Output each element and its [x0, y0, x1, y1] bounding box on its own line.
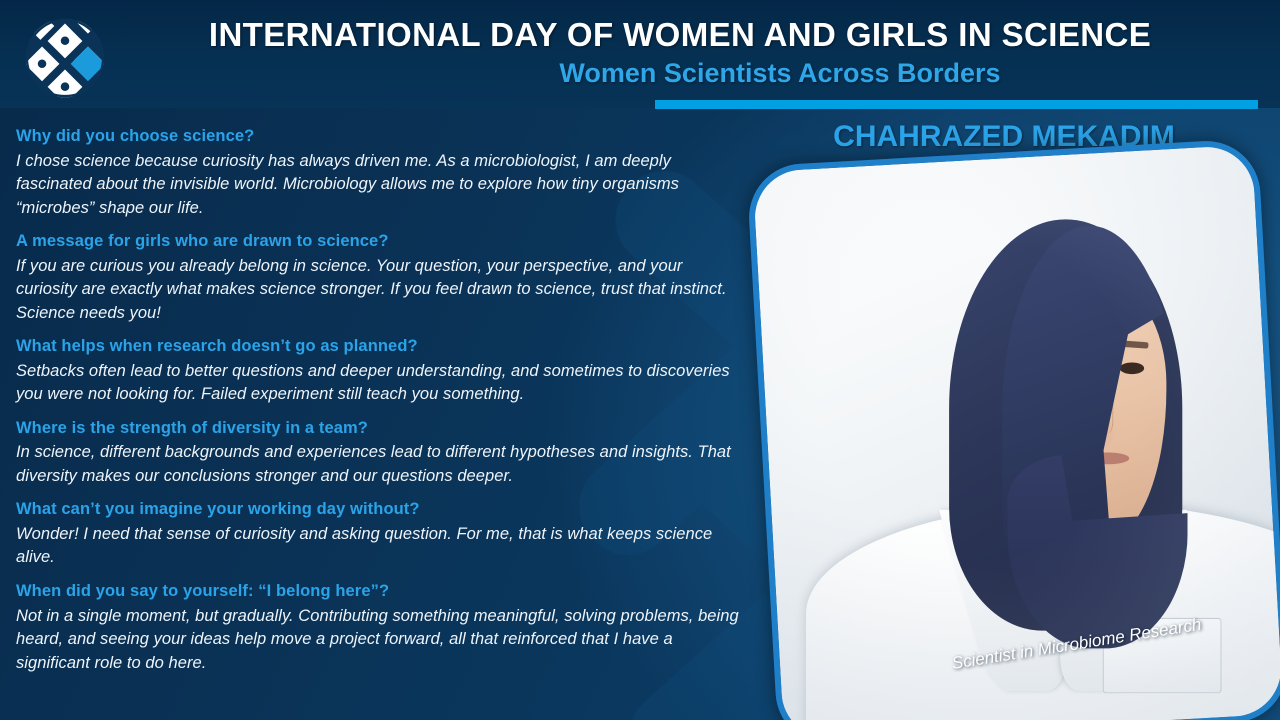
page-subtitle: Women Scientists Across Borders — [320, 58, 1240, 89]
qa-item: Why did you choose science? I chose scie… — [16, 126, 744, 220]
poster-canvas: INTERNATIONAL DAY OF WOMEN AND GIRLS IN … — [0, 0, 1280, 720]
qa-answer: Setbacks often lead to better questions … — [16, 360, 744, 407]
qa-item: What can’t you imagine your working day … — [16, 499, 744, 570]
qa-answer: Wonder! I need that sense of curiosity a… — [16, 523, 744, 570]
qa-item: Where is the strength of diversity in a … — [16, 418, 744, 489]
qa-question: What helps when research doesn’t go as p… — [16, 336, 744, 358]
un-style-diamond-logo-icon — [24, 17, 106, 99]
qa-item: When did you say to yourself: “I belong … — [16, 581, 744, 675]
qa-question: What can’t you imagine your working day … — [16, 499, 744, 521]
qa-item: What helps when research doesn’t go as p… — [16, 336, 744, 407]
qa-column: Why did you choose science? I chose scie… — [16, 126, 744, 686]
header-banner: INTERNATIONAL DAY OF WOMEN AND GIRLS IN … — [0, 0, 1280, 108]
qa-answer: Not in a single moment, but gradually. C… — [16, 605, 744, 675]
qa-question: Where is the strength of diversity in a … — [16, 418, 744, 440]
qa-answer: If you are curious you already belong in… — [16, 255, 744, 325]
qa-answer: I chose science because curiosity has al… — [16, 150, 744, 220]
qa-item: A message for girls who are drawn to sci… — [16, 231, 744, 325]
accent-bar — [655, 100, 1258, 109]
qa-question: When did you say to yourself: “I belong … — [16, 581, 744, 603]
qa-question: A message for girls who are drawn to sci… — [16, 231, 744, 253]
qa-question: Why did you choose science? — [16, 126, 744, 148]
page-title: INTERNATIONAL DAY OF WOMEN AND GIRLS IN … — [120, 16, 1240, 54]
qa-answer: In science, different backgrounds and ex… — [16, 441, 744, 488]
